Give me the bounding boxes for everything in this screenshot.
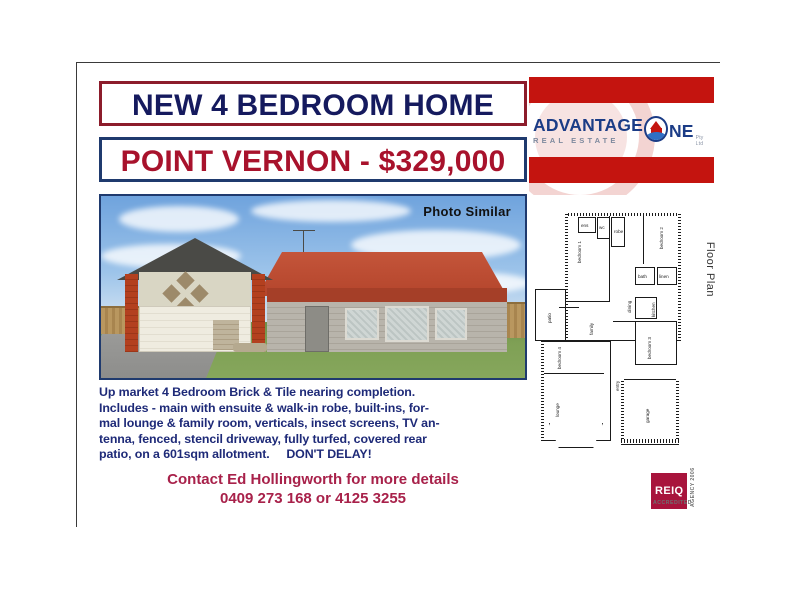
flyer-right-column: ADVANTAGE REAL ESTATE NE Pty Ltd: [529, 77, 714, 517]
logo-suffix-text: Pty Ltd: [696, 135, 711, 147]
brand-bar-bottom: [529, 157, 714, 183]
fp-dimension-line: [613, 321, 661, 322]
fp-garage: [621, 379, 679, 445]
fp-room-label: lounge: [555, 403, 560, 417]
fp-room-label: entry: [615, 381, 620, 391]
headline-title-text: NEW 4 BEDROOM HOME: [102, 87, 524, 125]
fp-bedroom3: [635, 321, 677, 365]
reiq-mark-text: REIQ: [655, 485, 684, 497]
window: [345, 308, 379, 340]
logo-circle-icon: [644, 116, 668, 142]
fp-wall-hatch: [621, 439, 679, 443]
fp-room-label: patio: [547, 313, 552, 323]
window: [385, 306, 429, 342]
logo-one-text: NE: [669, 121, 694, 142]
property-photo: Photo Similar: [99, 194, 527, 380]
photo-similar-label: Photo Similar: [423, 204, 511, 219]
fp-room-label: bedroom 1: [577, 241, 582, 263]
fp-room-label: family: [589, 323, 594, 335]
floorplan-caption: Floor Plan: [704, 242, 716, 297]
description-line: patio, on a 601sqm allotment. DON'T DELA…: [99, 447, 527, 463]
floorplan-container: bedroom 1 bedroom 2 ens wc robe bath lin…: [529, 201, 714, 489]
logo-tagline-text: REAL ESTATE: [533, 137, 643, 145]
fp-dimension-line: [559, 307, 579, 308]
fp-wall-hatch: [676, 379, 679, 445]
tv-antenna-bar: [293, 230, 315, 231]
gable-diamond: [176, 271, 194, 289]
fp-room-label: ens: [581, 223, 588, 228]
logo-advantage-text: ADVANTAGE: [533, 117, 643, 135]
fp-wall-hatch: [541, 341, 544, 441]
garden-bed: [233, 343, 267, 352]
company-logo: ADVANTAGE REAL ESTATE NE Pty Ltd: [533, 111, 711, 151]
fp-wall-hatch: [565, 213, 681, 216]
fp-wall-hatch: [621, 379, 624, 445]
contact-phone-line: 0409 273 168 or 4125 3255: [99, 489, 527, 508]
description-line: Includes - main with ensuite & walk-in r…: [99, 401, 527, 417]
fp-room-label: linen: [659, 274, 669, 279]
brand-header: ADVANTAGE REAL ESTATE NE Pty Ltd: [529, 77, 714, 195]
flyer-sheet: NEW 4 BEDROOM HOME POINT VERNON - $329,0…: [76, 62, 720, 527]
property-description: Up market 4 Bedroom Brick & Tile nearing…: [99, 385, 527, 463]
wave-icon: [646, 132, 667, 140]
fp-wall-hatch: [678, 213, 681, 341]
floorplan-drawing: bedroom 1 bedroom 2 ens wc robe bath lin…: [535, 201, 693, 489]
headline-price-text: POINT VERNON - $329,000: [102, 143, 524, 181]
reiq-agency-year-text: AGENCY 2006: [690, 468, 696, 507]
fp-room-label: bath: [638, 274, 647, 279]
brick-pier: [125, 274, 138, 352]
fp-wall: [565, 301, 610, 302]
fp-wall: [544, 373, 604, 374]
tv-antenna: [303, 230, 304, 254]
photo-scene: [101, 196, 525, 378]
description-line: tenna, fenced, stencil driveway, fully t…: [99, 432, 527, 448]
description-line: Up market 4 Bedroom Brick & Tile nearing…: [99, 385, 527, 401]
fp-wall: [643, 216, 644, 264]
cloud-shape: [251, 200, 411, 222]
contact-block: Contact Ed Hollingworth for more details…: [99, 470, 527, 508]
fp-room-label: garage: [645, 409, 650, 423]
headline-title-box: NEW 4 BEDROOM HOME: [99, 81, 527, 126]
front-door: [305, 306, 329, 352]
fp-room-label: bedroom 3: [647, 337, 652, 359]
contact-agent-line: Contact Ed Hollingworth for more details: [99, 470, 527, 489]
window: [435, 308, 467, 340]
fp-room-label: bedroom 4: [557, 347, 562, 369]
gable-diamond: [162, 284, 180, 302]
logo-wordmark: ADVANTAGE REAL ESTATE: [533, 117, 643, 145]
reiq-accreditation-logo: REIQ ACCREDITED AGENCY 2006: [651, 473, 697, 519]
fp-room-label: dining: [627, 301, 632, 313]
headline-price-box: POINT VERNON - $329,000: [99, 137, 527, 182]
description-line: mal lounge & family room, verticals, ins…: [99, 416, 527, 432]
fp-room-label: robe: [614, 229, 623, 234]
fp-bay-window: [549, 423, 603, 448]
reiq-accredited-text: ACCREDITED: [653, 500, 692, 506]
house-structure: [117, 232, 507, 352]
fp-room-label: kitchen: [651, 302, 656, 317]
gable-diamond: [190, 284, 208, 302]
fp-room-label: wc: [599, 225, 605, 230]
cloud-shape: [119, 206, 239, 232]
fp-room-label: bedroom 2: [659, 227, 664, 249]
brand-bar-top: [529, 77, 714, 103]
flyer-left-column: NEW 4 BEDROOM HOME POINT VERNON - $329,0…: [99, 81, 527, 508]
brick-pier: [252, 274, 265, 352]
